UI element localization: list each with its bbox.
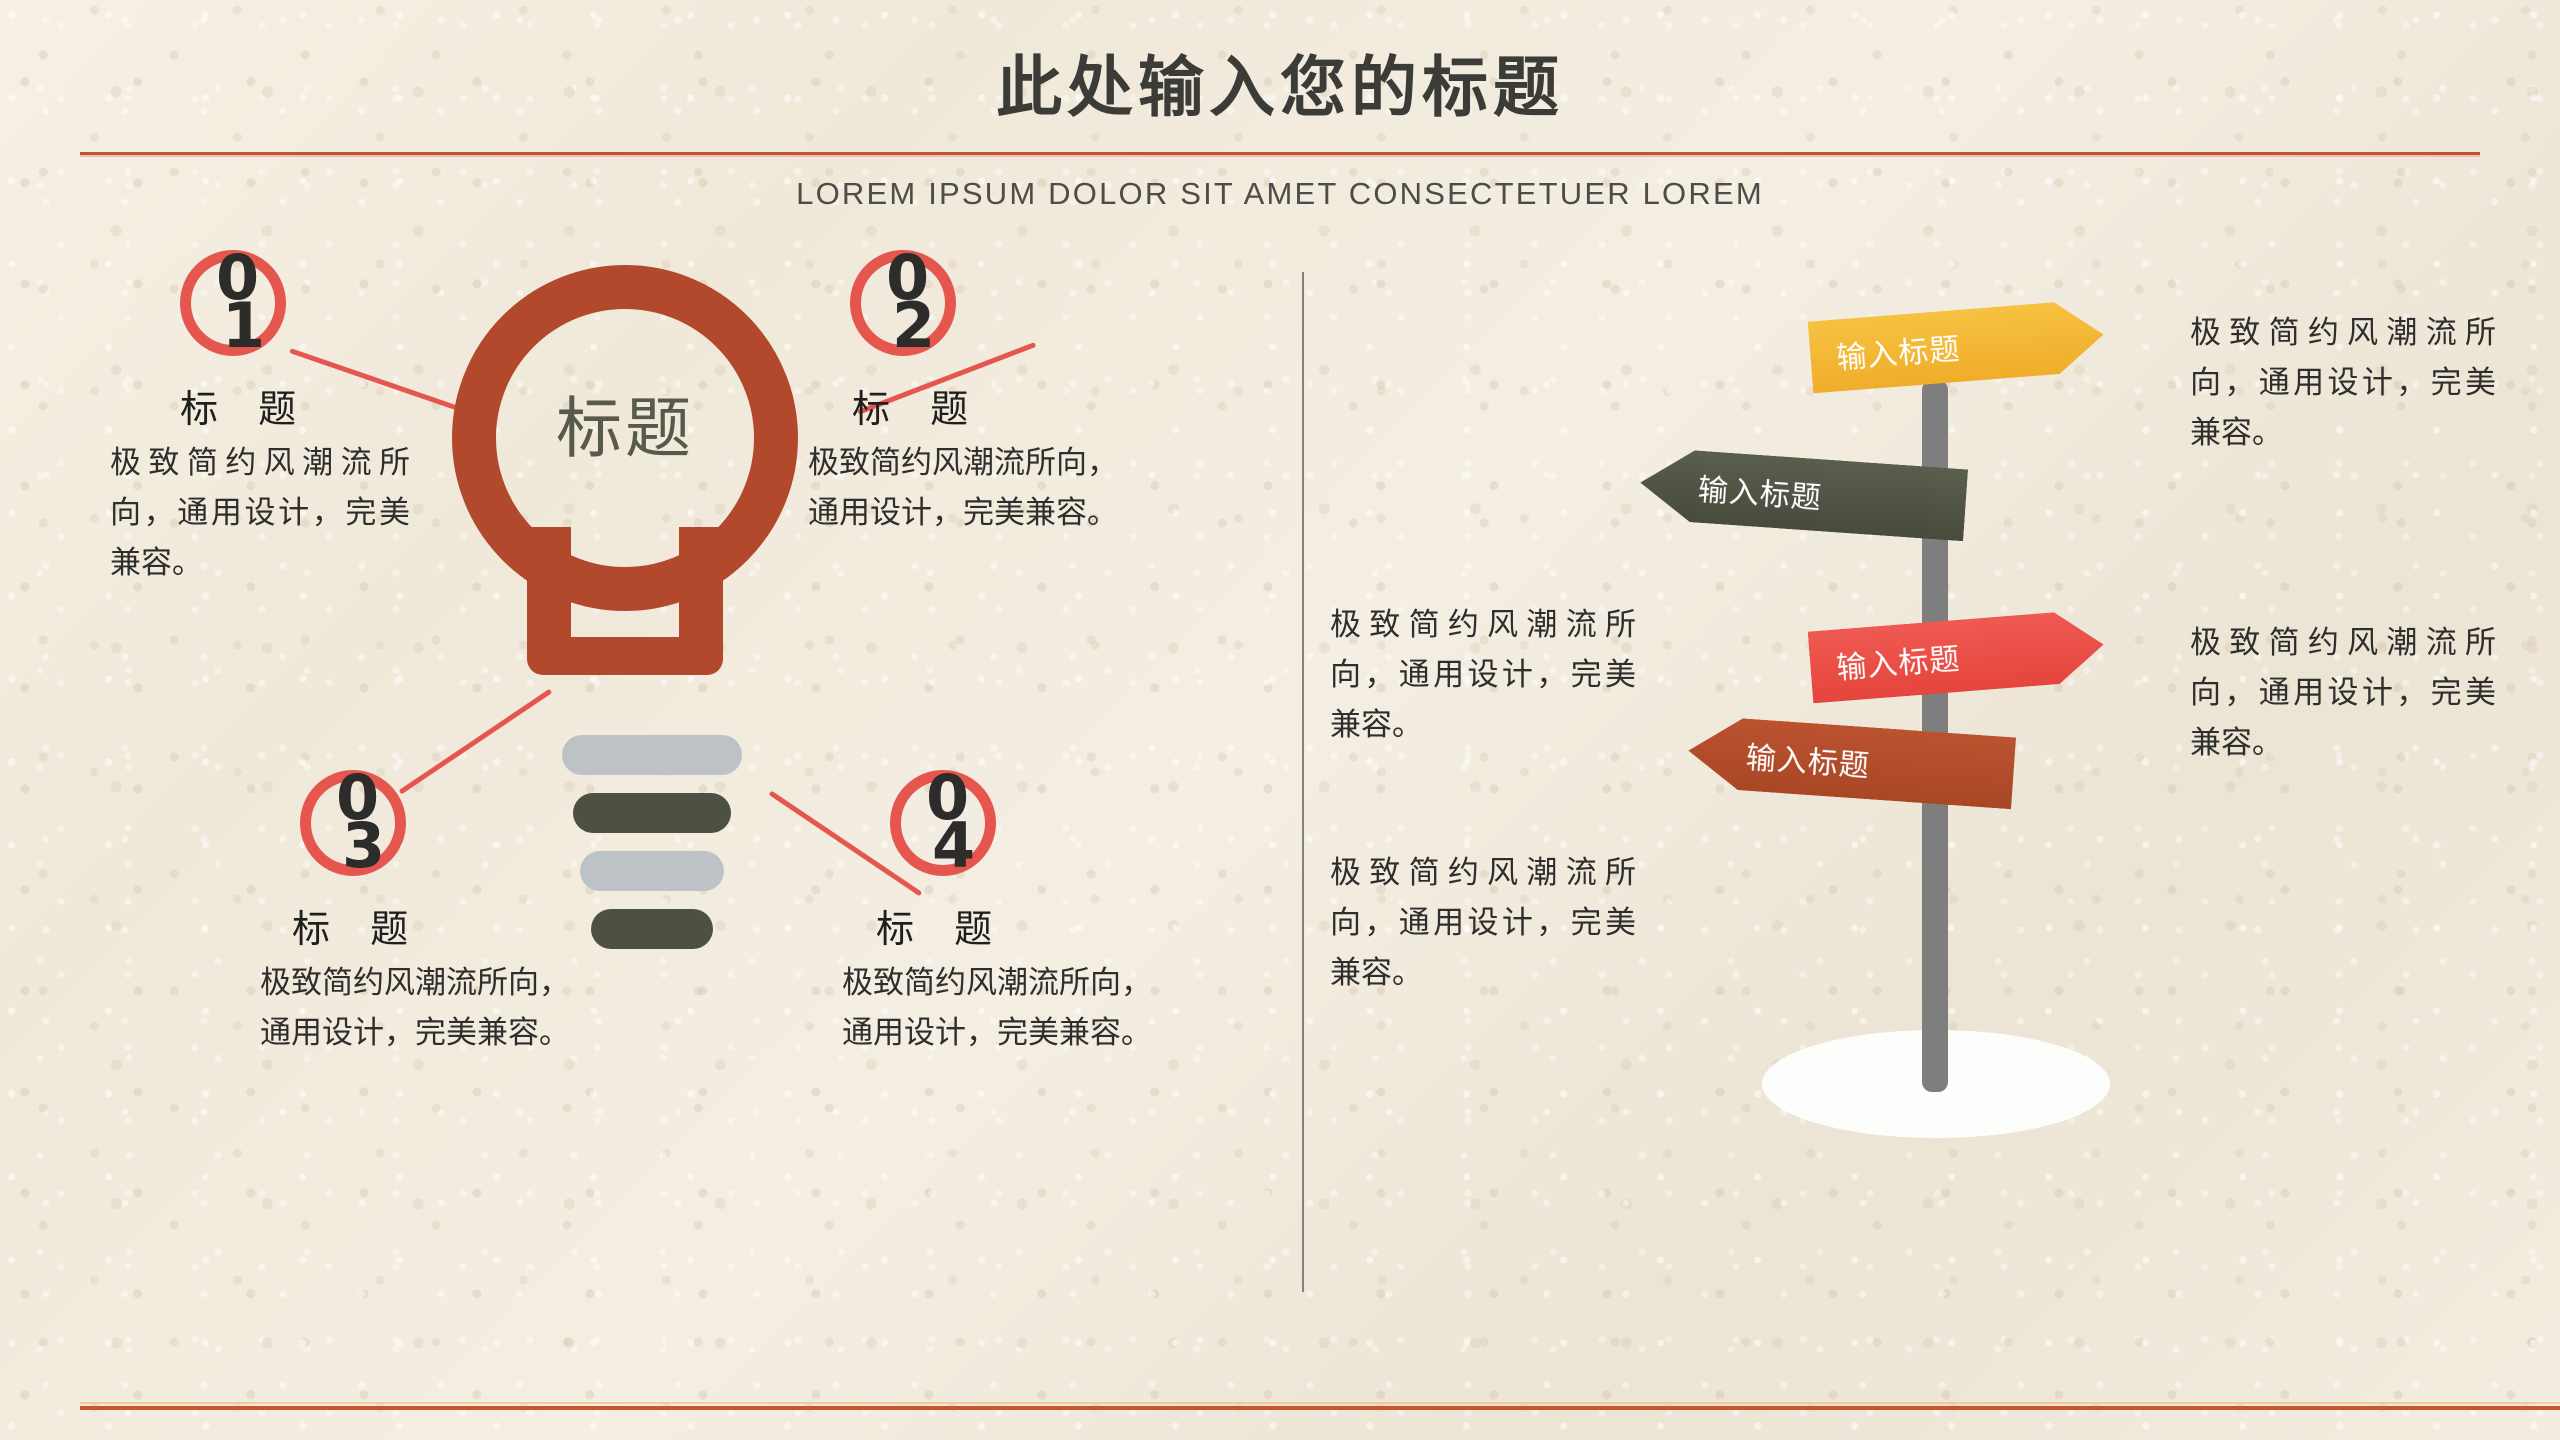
lightbulb-base-bar-1 <box>562 735 742 775</box>
right-content-panel: 输入标题 输入标题 输入标题 输入标题 极致简约风潮流所向，通用设计，完美兼容。… <box>1310 230 2560 1360</box>
node-number-04: 0 4 <box>908 774 975 871</box>
signpost-sign-2-label: 输入标题 <box>1697 465 1824 518</box>
signpost-sign-4-plate: 输入标题 <box>1686 715 2016 810</box>
signpost-sign-1[interactable]: 输入标题 <box>1808 299 2107 394</box>
node-body-01: 极致简约风潮流所向，通用设计，完美兼容。 <box>110 438 410 589</box>
signpost-sign-1-plate: 输入标题 <box>1808 299 2107 394</box>
node-body-04: 极致简约风潮流所向，通用设计，完美兼容。 <box>842 958 1152 1058</box>
header-divider-rule <box>80 152 2480 155</box>
page-subtitle: LOREM IPSUM DOLOR SIT AMET CONSECTETUER … <box>0 176 2560 212</box>
lightbulb-base-bar-4 <box>591 909 713 949</box>
page-title: 此处输入您的标题 <box>0 34 2560 130</box>
node-number-01: 0 1 <box>198 254 265 351</box>
signpost-sign-2-plate: 输入标题 <box>1638 447 1968 542</box>
footer-divider-rule <box>80 1406 2560 1410</box>
node-number-03: 0 3 <box>318 774 385 871</box>
signpost-sign-3-label: 输入标题 <box>1835 634 1962 688</box>
lightbulb-icon: 标题 <box>430 265 820 685</box>
signpost-sign-3-plate: 输入标题 <box>1808 609 2107 704</box>
signpost-sign-3[interactable]: 输入标题 <box>1808 609 2107 704</box>
signpost-sign-4[interactable]: 输入标题 <box>1686 715 2016 810</box>
lightbulb-base-bar-2 <box>573 793 731 833</box>
node-number-02: 0 2 <box>868 254 935 351</box>
node-body-03: 极致简约风潮流所向，通用设计，完美兼容。 <box>260 958 570 1058</box>
connector-line-3 <box>399 689 553 795</box>
panel-divider <box>1302 272 1304 1292</box>
signpost-sign-2[interactable]: 输入标题 <box>1638 447 1968 542</box>
left-content-panel: 标题 0 1 标 题 极致简约风潮流所向，通用设计，完美兼容。 0 2 标 题 … <box>0 230 1300 1330</box>
node-title-01: 标 题 <box>180 378 310 433</box>
signpost-description-2: 极致简约风潮流所向，通用设计，完美兼容。 <box>1330 600 1636 751</box>
lightbulb-center-label: 标题 <box>452 375 798 471</box>
signpost-description-3: 极致简约风潮流所向，通用设计，完美兼容。 <box>2190 618 2496 769</box>
node-title-02: 标 题 <box>852 378 982 433</box>
lightbulb-base-bar-3 <box>580 851 724 891</box>
node-title-04: 标 题 <box>876 898 1006 953</box>
signpost-description-4: 极致简约风潮流所向，通用设计，完美兼容。 <box>1330 848 1636 999</box>
signpost-sign-1-label: 输入标题 <box>1835 324 1962 378</box>
signpost-sign-4-label: 输入标题 <box>1745 733 1872 786</box>
lightbulb-neck-bottom <box>527 637 723 675</box>
node-body-02: 极致简约风潮流所向，通用设计，完美兼容。 <box>808 438 1118 538</box>
signpost-description-1: 极致简约风潮流所向，通用设计，完美兼容。 <box>2190 308 2496 459</box>
node-title-03: 标 题 <box>292 898 422 953</box>
